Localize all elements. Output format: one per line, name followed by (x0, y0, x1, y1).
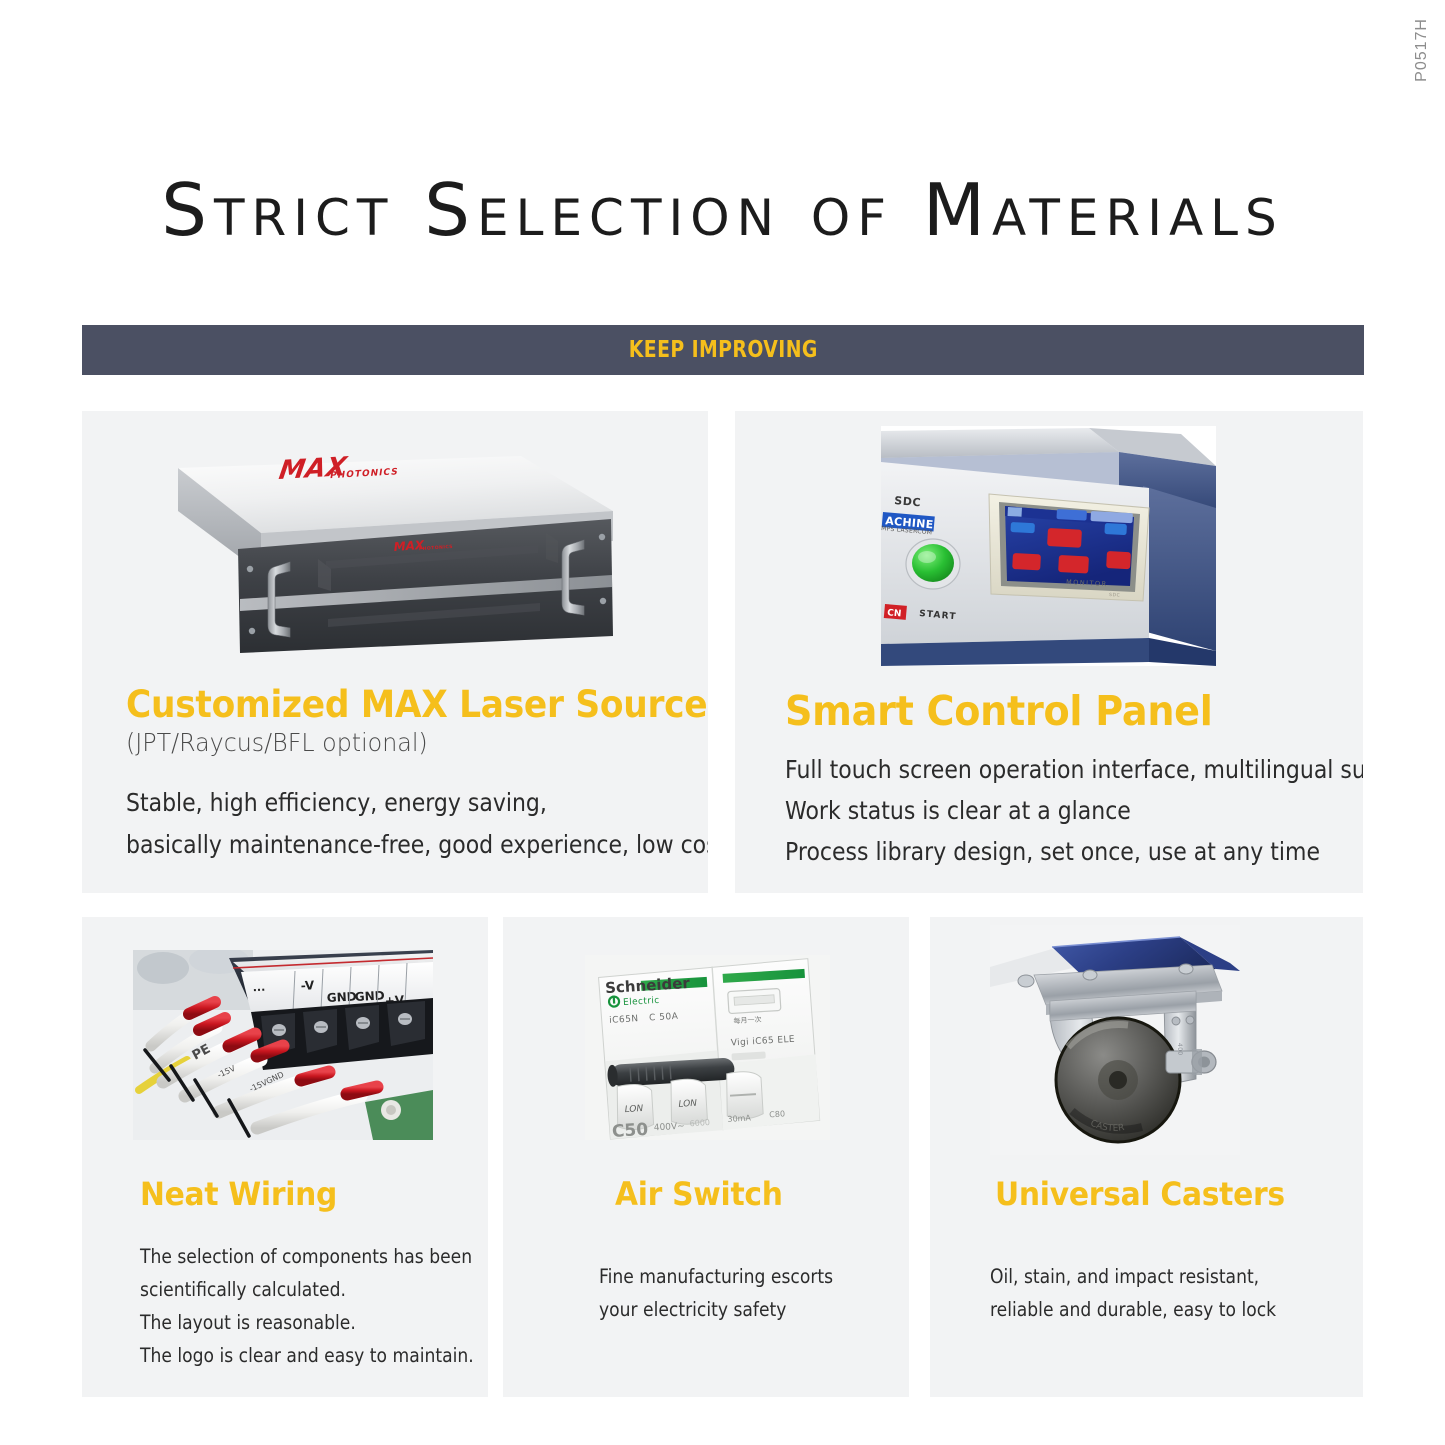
svg-text:MAX: MAX (277, 452, 350, 486)
smart-control-panel-photo: SDC ACHINE MPS LASERCOM CN (881, 426, 1216, 666)
card-universal-casters[interactable]: CASTER 400 Universal Casters Oil, stain,… (930, 917, 1363, 1397)
card-body-line: Full touch screen operation interface, m… (785, 749, 1363, 790)
card-body-line: Stable, high efficiency, energy saving, (126, 782, 708, 824)
svg-text:-V: -V (300, 978, 315, 993)
svg-text:C80: C80 (769, 1109, 785, 1119)
card-title-panel: Smart Control Panel (785, 687, 1213, 735)
card-body-wiring: The selection of components has been sci… (140, 1240, 474, 1372)
banner-label: KEEP IMPROVING (628, 337, 817, 363)
card-title-casters: Universal Casters (995, 1175, 1285, 1213)
svg-text:400V~: 400V~ (654, 1122, 685, 1134)
svg-text:C 50A: C 50A (649, 1012, 679, 1024)
card-neat-wiring[interactable]: ··· -V GND GND +V (82, 917, 488, 1397)
svg-text:SDC: SDC (894, 494, 922, 509)
card-body-line: scientifically calculated. (140, 1273, 474, 1306)
marketing-slide: P0517H Strict Selection of Materials KEE… (0, 0, 1445, 1445)
svg-text:每月一次: 每月一次 (733, 1015, 761, 1026)
card-body-panel: Full touch screen operation interface, m… (785, 749, 1363, 872)
svg-text:GND: GND (326, 989, 357, 1005)
svg-text:SDC: SDC (1109, 592, 1121, 599)
card-body-casters: Oil, stain, and impact resistant, reliab… (990, 1260, 1276, 1326)
neat-wiring-photo: ··· -V GND GND +V (133, 950, 433, 1140)
card-body-line: basically maintenance-free, good experie… (126, 824, 708, 866)
svg-text:LON: LON (678, 1099, 697, 1110)
card-subtitle-laser: (JPT/Raycus/BFL optional) (126, 728, 428, 757)
page-title: Strict Selection of Materials (0, 168, 1445, 252)
card-body-line: The layout is reasonable. (140, 1306, 474, 1339)
svg-text:400: 400 (1176, 1043, 1183, 1056)
card-body-laser: Stable, high efficiency, energy saving, … (126, 782, 708, 866)
card-body-line: Oil, stain, and impact resistant, (990, 1260, 1276, 1293)
card-title-laser: Customized MAX Laser Source (126, 683, 707, 726)
max-laser-source-photo: MAX PHOTONICS MAX PHOTONICS (166, 441, 616, 656)
card-air-switch[interactable]: Schneider Electric iC65N C 50A 每月一次 Vigi… (503, 917, 909, 1397)
svg-text:30mA: 30mA (727, 1113, 751, 1123)
card-body-line: Work status is clear at a glance (785, 790, 1363, 831)
card-title-wiring: Neat Wiring (140, 1175, 337, 1213)
card-body-line: The logo is clear and easy to maintain. (140, 1339, 474, 1372)
svg-text:iC65N: iC65N (609, 1014, 639, 1026)
svg-text:C50: C50 (611, 1120, 648, 1140)
card-title-airswitch: Air Switch (615, 1175, 783, 1213)
svg-text:···: ··· (252, 983, 265, 997)
card-smart-control-panel[interactable]: SDC ACHINE MPS LASERCOM CN (735, 411, 1363, 893)
universal-caster-photo: CASTER 400 (990, 925, 1240, 1155)
card-body-line: The selection of components has been (140, 1240, 474, 1273)
card-body-line: reliable and durable, easy to lock (990, 1293, 1276, 1326)
card-body-line: Fine manufacturing escorts (599, 1260, 833, 1293)
svg-text:LON: LON (624, 1104, 643, 1115)
air-switch-photo: Schneider Electric iC65N C 50A 每月一次 Vigi… (585, 955, 830, 1140)
svg-text:CN: CN (887, 608, 902, 619)
corner-code: P0517H (1413, 18, 1431, 82)
card-body-line: your electricity safety (599, 1293, 833, 1326)
card-laser-source[interactable]: MAX PHOTONICS MAX PHOTONICS Customized M… (82, 411, 708, 893)
keep-improving-banner: KEEP IMPROVING (82, 325, 1364, 375)
card-body-line: Process library design, set once, use at… (785, 831, 1363, 872)
card-body-airswitch: Fine manufacturing escorts your electric… (599, 1260, 833, 1326)
svg-text:GND: GND (354, 988, 385, 1004)
svg-text:6000: 6000 (689, 1118, 710, 1128)
